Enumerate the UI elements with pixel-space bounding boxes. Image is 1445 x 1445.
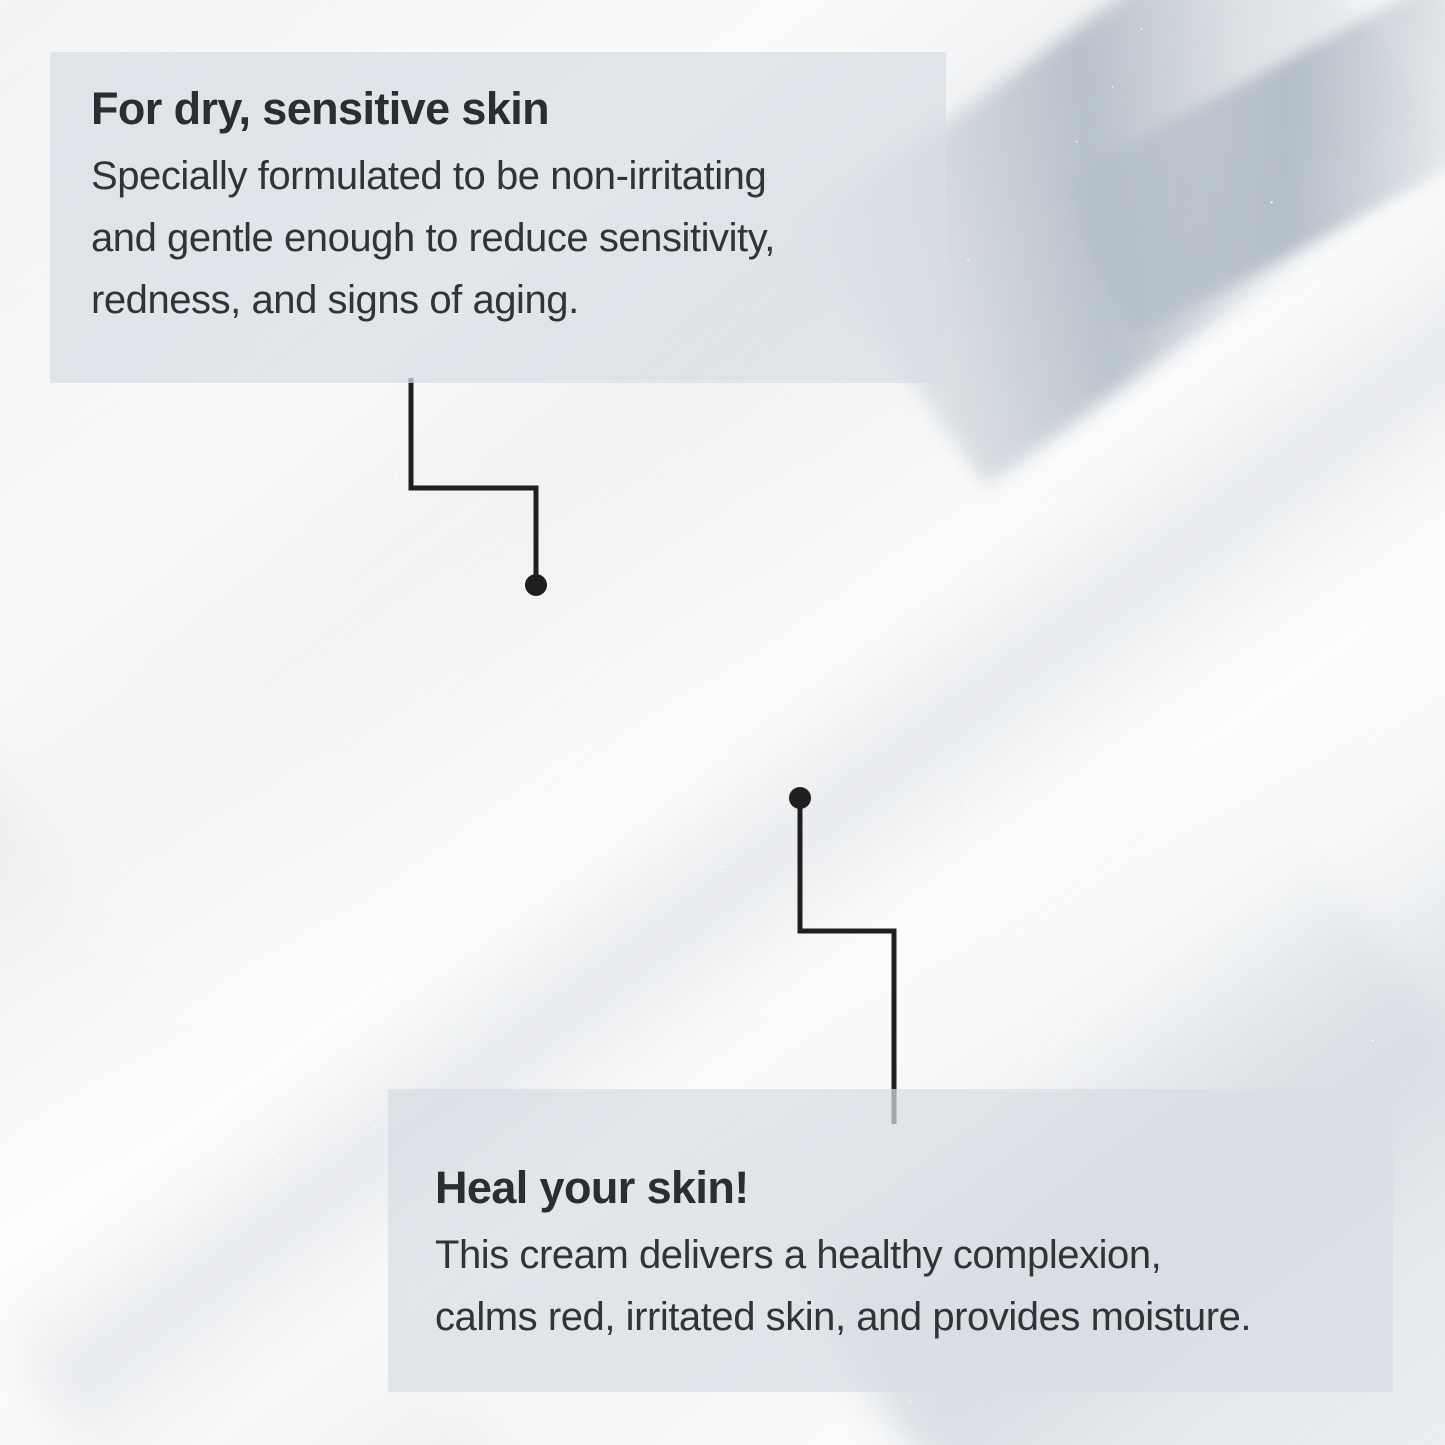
callout-heading-dry-sensitive-skin: For dry, sensitive skin <box>91 86 946 132</box>
callout-panel-heal-your-skin: Heal your skin! This cream delivers a he… <box>388 1089 1393 1392</box>
callout-panel-dry-sensitive-skin: For dry, sensitive skin Specially formul… <box>50 52 946 383</box>
product-infographic-canvas: For dry, sensitive skin Specially formul… <box>0 0 1445 1445</box>
callout-body-heal-your-skin: This cream delivers a healthy complexion… <box>435 1211 1393 1348</box>
callout-body-line: This cream delivers a healthy complexion… <box>435 1224 1393 1286</box>
callout-body-line: redness, and signs of aging. <box>91 269 946 331</box>
callout-body-line: calms red, irritated skin, and provides … <box>435 1286 1393 1348</box>
callout-body-line: and gentle enough to reduce sensitivity, <box>91 207 946 269</box>
callout-body-line: Specially formulated to be non-irritatin… <box>91 145 946 207</box>
callout-heading-heal-your-skin: Heal your skin! <box>435 1165 1393 1211</box>
callout-body-dry-sensitive-skin: Specially formulated to be non-irritatin… <box>91 132 946 331</box>
